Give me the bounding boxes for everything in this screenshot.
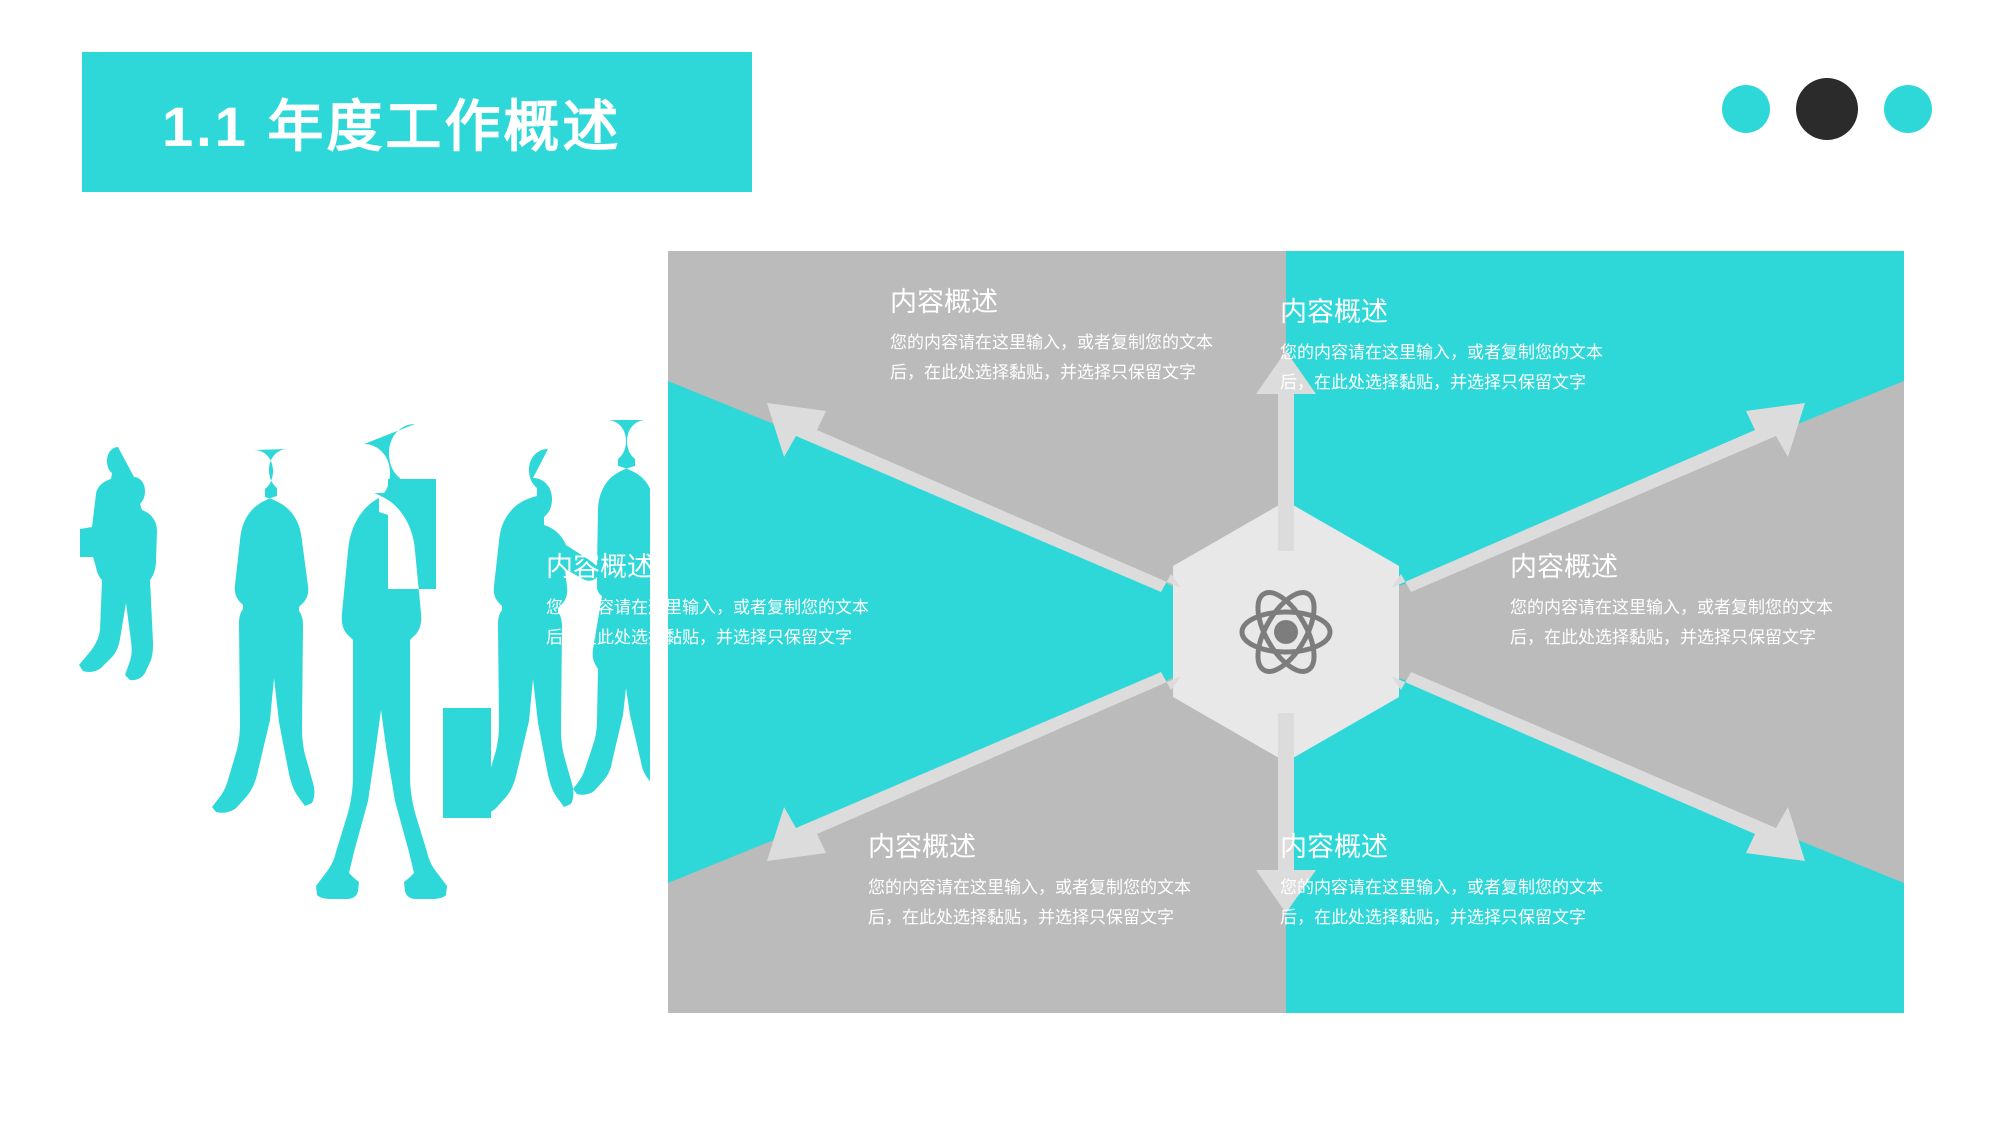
quadrant-top-right: 内容概述 您的内容请在这里输入，或者复制您的文本后，在此处选择黏贴，并选择只保留…	[1280, 296, 1610, 397]
quadrant-heading: 内容概述	[1280, 296, 1610, 328]
silhouette-man-briefcase	[316, 424, 447, 899]
quadrant-heading: 内容概述	[868, 831, 1198, 863]
silhouette-man-pockets	[212, 449, 314, 813]
quadrant-bottom-right: 内容概述 您的内容请在这里输入，或者复制您的文本后，在此处选择黏贴，并选择只保留…	[1280, 831, 1610, 932]
quadrant-body: 您的内容请在这里输入，或者复制您的文本后，在此处选择黏贴，并选择只保留文字	[546, 593, 876, 651]
dot-cyan-left-icon	[1722, 85, 1770, 133]
quadrant-body: 您的内容请在这里输入，或者复制您的文本后，在此处选择黏贴，并选择只保留文字	[1280, 873, 1610, 931]
dot-cyan-right-icon	[1884, 85, 1932, 133]
quadrant-heading: 内容概述	[1510, 551, 1840, 583]
silhouette-woman-folder	[79, 447, 157, 680]
quadrant-bottom-left: 内容概述 您的内容请在这里输入，或者复制您的文本后，在此处选择黏贴，并选择只保留…	[868, 831, 1198, 932]
business-people-silhouettes	[70, 420, 650, 920]
quadrant-mid-left: 内容概述 您的内容请在这里输入，或者复制您的文本后，在此处选择黏贴，并选择只保留…	[546, 551, 876, 652]
quadrant-body: 您的内容请在这里输入，或者复制您的文本后，在此处选择黏贴，并选择只保留文字	[890, 328, 1220, 386]
slide-title-banner: 1.1 年度工作概述	[82, 52, 752, 192]
decorative-dots	[1722, 78, 1932, 140]
quadrant-mid-right: 内容概述 您的内容请在这里输入，或者复制您的文本后，在此处选择黏贴，并选择只保留…	[1510, 551, 1840, 652]
quadrant-heading: 内容概述	[1280, 831, 1610, 863]
quadrant-heading: 内容概述	[890, 286, 1220, 318]
quadrant-body: 您的内容请在这里输入，或者复制您的文本后，在此处选择黏贴，并选择只保留文字	[868, 873, 1198, 931]
dot-dark-center-icon	[1796, 78, 1858, 140]
quadrant-body: 您的内容请在这里输入，或者复制您的文本后，在此处选择黏贴，并选择只保留文字	[1280, 338, 1610, 396]
quadrant-top-left: 内容概述 您的内容请在这里输入，或者复制您的文本后，在此处选择黏贴，并选择只保留…	[890, 286, 1220, 387]
atom-icon	[1231, 577, 1341, 687]
quadrant-heading: 内容概述	[546, 551, 876, 583]
quadrant-body: 您的内容请在这里输入，或者复制您的文本后，在此处选择黏贴，并选择只保留文字	[1510, 593, 1840, 651]
radial-hexagon-diagram: 内容概述 您的内容请在这里输入，或者复制您的文本后，在此处选择黏贴，并选择只保留…	[668, 251, 1904, 1013]
page-title: 1.1 年度工作概述	[162, 82, 621, 163]
